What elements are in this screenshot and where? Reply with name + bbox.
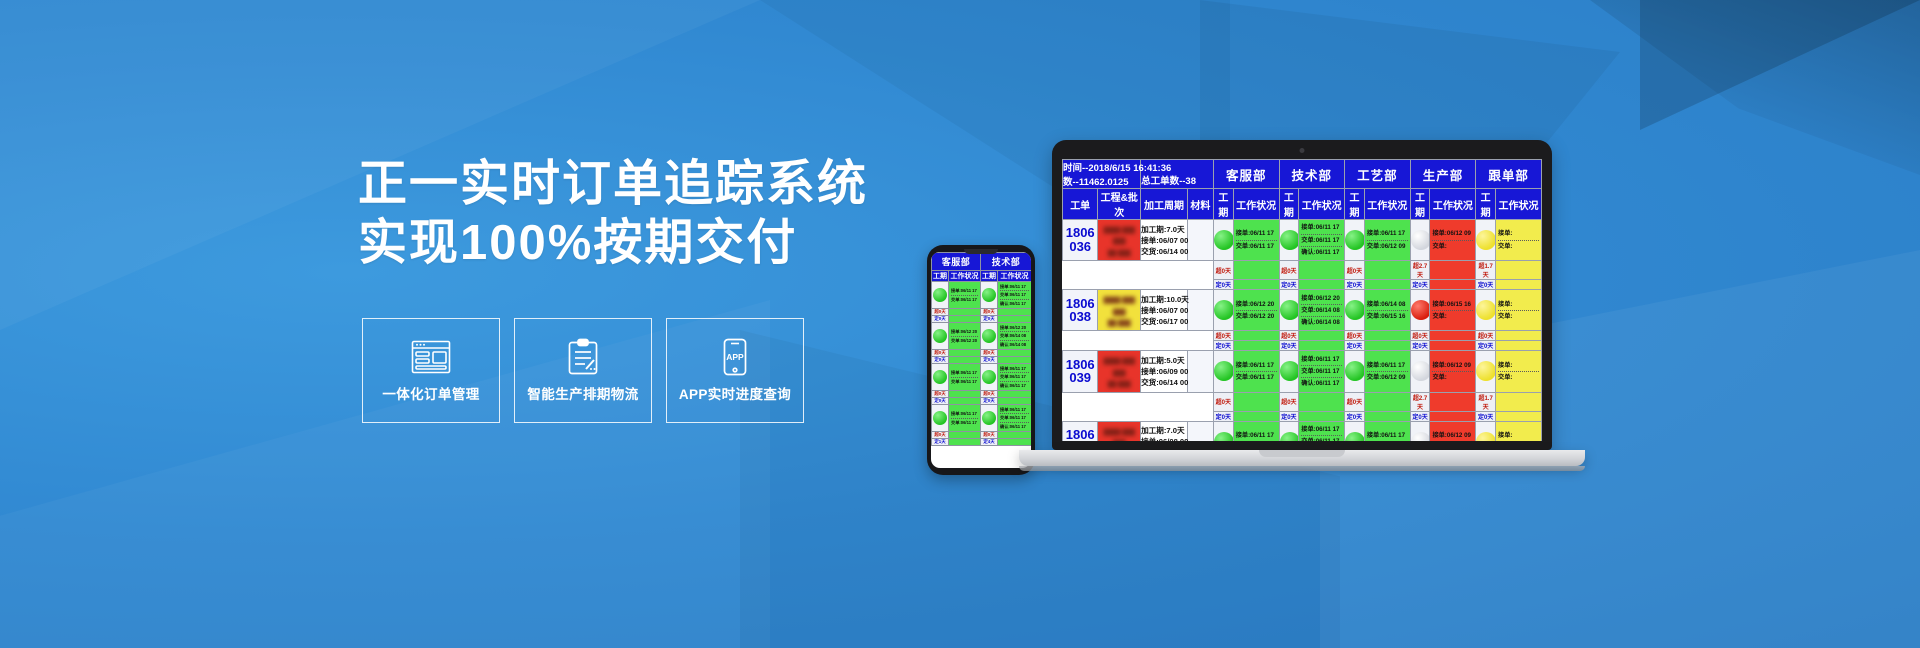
- feature-label: 智能生产排期物流: [527, 383, 638, 403]
- dept-status-cell[interactable]: 接单:06/11 17交单:06/11 17: [1233, 220, 1279, 261]
- phone-tags-over: 超0天超0天: [932, 309, 1032, 316]
- status-dot-yellow: [1476, 361, 1496, 381]
- status-dot-grey: [1411, 361, 1431, 381]
- phone-table-row[interactable]: 接单:06/11 17交单:06/11 17接单:06/11 17交单:06/1…: [932, 364, 1032, 391]
- status-filler: [1496, 280, 1542, 290]
- status-filler: [1364, 392, 1410, 411]
- status-filler: [1299, 331, 1345, 341]
- status-events: 接单:06/12 20交单:06/14 08确认:06/14 08: [998, 323, 1031, 349]
- headline-line-1: 正一实时订单追踪系统: [358, 155, 978, 214]
- status-events: 接单:06/12 20交单:06/12 20: [949, 327, 980, 345]
- dashboard-header-row: 时间--2018/6/15 16:41:36数--11462.0125 总工单数…: [1063, 160, 1542, 189]
- status-dot-grey: [1411, 432, 1431, 441]
- dept-status-cell[interactable]: 接单:06/11 17交单:06/11 17确认:06/11 17: [1299, 421, 1345, 441]
- dept-status-cell[interactable]: 接单:06/12 20交单:06/12 20: [1233, 290, 1279, 331]
- dept-status-cell[interactable]: 接单:06/12 09交单:: [1430, 351, 1476, 392]
- status-filler: [998, 316, 1031, 323]
- over-days-tag: 超0天: [1213, 261, 1233, 280]
- phone-status-cell[interactable]: 接单:06/11 17交单:06/11 17确认:06/11 17: [998, 282, 1031, 309]
- status-events: 接单:06/11 17交单:06/11 17确认:06/11 17: [1299, 353, 1344, 390]
- phone-mockup: 客服部技术部工期工作状况工期工作状况接单:06/11 17交单:06/11 17…: [927, 245, 1035, 475]
- laptop-lid: 时间--2018/6/15 16:41:36数--11462.0125 总工单数…: [1052, 140, 1552, 450]
- phone-duration-cell[interactable]: [932, 405, 949, 432]
- fixed-days-tag: 定0天: [1279, 411, 1299, 421]
- status-events: 接单:06/11 17交单:06/11 17确认:06/11 17: [998, 405, 1031, 431]
- status-filler: [1233, 280, 1279, 290]
- status-events: 接单:06/11 17交单:06/12 09: [1365, 359, 1410, 384]
- table-row-tags-over: 超0天超0天超0天超2.7天超1.7天: [1063, 392, 1542, 411]
- dept-status-cell[interactable]: 接单:交单:: [1496, 290, 1542, 331]
- over-days-tag: 超0天: [932, 350, 949, 357]
- status-events: 接单:06/11 17交单:06/11 17: [1234, 359, 1279, 384]
- status-events: 接单:06/11 17交单:06/12 09: [1365, 429, 1410, 441]
- status-dot-green: [933, 370, 947, 384]
- over-days-tag: 超0天: [981, 432, 998, 439]
- headline-line-2: 实现100%按期交付: [358, 214, 978, 273]
- over-days-tag: 超0天: [981, 391, 998, 398]
- fixed-days-tag: 定0天: [981, 398, 998, 405]
- status-dot-green: [982, 370, 996, 384]
- dept-duration-cell[interactable]: [1345, 220, 1365, 261]
- fixed-days-tag: 定0天: [1410, 341, 1430, 351]
- phone-tags-over: 超0天超0天: [932, 350, 1032, 357]
- laptop-screen[interactable]: 时间--2018/6/15 16:41:36数--11462.0125 总工单数…: [1062, 159, 1542, 441]
- status-events: 接单:06/14 08交单:06/15 16: [1365, 298, 1410, 323]
- dept-duration-cell[interactable]: [1279, 290, 1299, 331]
- status-events: 接单:交单:: [1496, 298, 1541, 323]
- fixed-days-tag: 定0天: [1476, 411, 1496, 421]
- dept-status-cell[interactable]: 接单:06/12 20交单:06/14 08确认:06/14 08: [1299, 290, 1345, 331]
- dept-header-5[interactable]: 跟单部: [1476, 160, 1542, 189]
- fixed-days-tag: 定0天: [1213, 411, 1233, 421]
- table-row[interactable]: 1806040████ ████████ ███加工期:7.0天接单:06/08…: [1063, 421, 1542, 441]
- phone-dashboard-table: 客服部技术部工期工作状况工期工作状况接单:06/11 17交单:06/11 17…: [931, 252, 1031, 446]
- over-days-tag: 超0天: [1345, 261, 1365, 280]
- dept-status-cell[interactable]: 接单:06/11 17交单:06/11 17: [1233, 351, 1279, 392]
- status-filler: [1233, 392, 1279, 411]
- material-cell[interactable]: [1187, 290, 1213, 331]
- phone-dept-header-1[interactable]: 客服部: [932, 253, 981, 271]
- status-filler: [1299, 341, 1345, 351]
- dept-duration-cell[interactable]: [1410, 421, 1430, 441]
- status-events: 接单:06/11 17交单:06/11 17确认:06/11 17: [998, 364, 1031, 390]
- phone-screen[interactable]: 客服部技术部工期工作状况工期工作状况接单:06/11 17交单:06/11 17…: [931, 252, 1031, 468]
- status-filler: [1364, 411, 1410, 421]
- dept-duration-cell[interactable]: [1213, 421, 1233, 441]
- status-events: 接单:06/11 17交单:06/11 17确认:06/11 17: [1299, 221, 1344, 258]
- over-days-tag: 超0天: [1279, 261, 1299, 280]
- over-days-tag: 超0天: [932, 309, 949, 316]
- status-filler: [1364, 341, 1410, 351]
- status-filler: [949, 309, 981, 316]
- status-dot-green: [1280, 361, 1300, 381]
- mobile-app-icon: APP: [722, 338, 748, 376]
- table-row[interactable]: 1806036████ ████████ ███加工期:7.0天接单:06/07…: [1063, 220, 1542, 261]
- phone-col-header-status[interactable]: 工作状况: [998, 271, 1031, 282]
- status-filler: [998, 432, 1031, 439]
- dept-status-cell[interactable]: 接单:交单:: [1496, 220, 1542, 261]
- col-header-4[interactable]: 材料: [1187, 189, 1213, 220]
- status-filler: [998, 350, 1031, 357]
- dept-status-cell[interactable]: 接单:06/11 17交单:06/11 17: [1233, 421, 1279, 441]
- status-events: 接单:06/11 17交单:06/11 17: [949, 409, 980, 427]
- phone-status-cell[interactable]: 接单:06/11 17交单:06/11 17: [949, 364, 981, 391]
- dept-status-cell[interactable]: 接单:交单:: [1496, 421, 1542, 441]
- feature-production-scheduling[interactable]: 智能生产排期物流: [514, 318, 652, 423]
- work-order-number[interactable]: 1806039: [1063, 351, 1098, 392]
- phone-duration-cell[interactable]: [981, 405, 998, 432]
- col-header-duration[interactable]: 工期: [1279, 189, 1299, 220]
- table-row[interactable]: 1806038████ ████████ ███加工期:10.0天接单:06/0…: [1063, 290, 1542, 331]
- col-header-status[interactable]: 工作状况: [1299, 189, 1345, 220]
- status-dot-green: [1214, 230, 1234, 250]
- status-events: 接单:06/12 09交单:: [1430, 359, 1475, 384]
- table-row[interactable]: 1806039████ ████████ ███加工期:5.0天接单:06/09…: [1063, 351, 1542, 392]
- phone-status-cell[interactable]: 接单:06/11 17交单:06/11 17确认:06/11 17: [998, 405, 1031, 432]
- status-events: 接单:06/11 17交单:06/11 17: [1234, 227, 1279, 252]
- col-header-3[interactable]: 加工周期: [1141, 189, 1188, 220]
- dept-status-cell[interactable]: 接单:06/11 17交单:06/12 09: [1364, 351, 1410, 392]
- fixed-days-tag: 定0天: [1476, 280, 1496, 290]
- phone-duration-cell[interactable]: [932, 323, 949, 350]
- dept-status-cell[interactable]: 接单:06/11 17交单:06/12 09: [1364, 421, 1410, 441]
- status-filler: [998, 398, 1031, 405]
- fixed-days-tag: 定0天: [981, 316, 998, 323]
- phone-subheader-row: 工期工作状况工期工作状况: [932, 271, 1032, 282]
- processing-cycle-cell: 加工期:7.0天接单:06/07 00交货:06/14 00: [1141, 220, 1188, 261]
- status-dot-green: [933, 288, 947, 302]
- status-events: 接单:06/11 17交单:06/11 17: [949, 286, 980, 304]
- status-filler: [949, 350, 981, 357]
- over-days-tag: 超0天: [1213, 392, 1233, 411]
- status-filler: [1496, 392, 1542, 411]
- phone-tags-over: 超0天超0天: [932, 391, 1032, 398]
- dept-duration-cell[interactable]: [1213, 290, 1233, 331]
- status-filler: [1430, 411, 1476, 421]
- processing-cycle-cell: 加工期:7.0天接单:06/08 00交货:06/15 00: [1141, 421, 1188, 441]
- material-cell[interactable]: [1187, 220, 1213, 261]
- status-filler: [949, 316, 981, 323]
- phone-dept-header-row: 客服部技术部: [932, 253, 1032, 271]
- over-days-tag: 超1.7天: [1476, 392, 1496, 411]
- status-filler: [1430, 331, 1476, 341]
- phone-status-cell[interactable]: 接单:06/11 17交单:06/11 17确认:06/11 17: [998, 364, 1031, 391]
- col-header-duration[interactable]: 工期: [1476, 189, 1496, 220]
- status-events: 接单:06/11 17交单:06/11 17: [949, 368, 980, 386]
- dashboard-time-info: 时间--2018/6/15 16:41:36数--11462.0125: [1063, 160, 1141, 189]
- table-row-tags-over: 超0天超0天超0天超2.7天超1.7天: [1063, 261, 1542, 280]
- dept-duration-cell[interactable]: [1345, 351, 1365, 392]
- feature-box-group: 一体化订单管理 智能生产排期物流: [362, 318, 804, 423]
- fixed-days-tag: 定0天: [1213, 280, 1233, 290]
- status-events: 接单:交单:: [1496, 227, 1541, 252]
- phone-duration-cell[interactable]: [932, 282, 949, 309]
- status-filler: [1233, 341, 1279, 351]
- dept-header-4[interactable]: 生产部: [1410, 160, 1476, 189]
- material-cell[interactable]: [1187, 351, 1213, 392]
- phone-status-cell[interactable]: 接单:06/12 20交单:06/14 08确认:06/14 08: [998, 323, 1031, 350]
- status-filler: [998, 391, 1031, 398]
- status-filler: [1233, 261, 1279, 280]
- batch-cell[interactable]: ████ ████████ ███: [1098, 351, 1141, 392]
- fixed-days-tag: 定0天: [1279, 280, 1299, 290]
- dept-duration-cell[interactable]: [1213, 220, 1233, 261]
- status-filler: [998, 439, 1031, 446]
- over-days-tag: 超2.7天: [1410, 392, 1430, 411]
- batch-cell[interactable]: ████ ████████ ███: [1098, 290, 1141, 331]
- fixed-days-tag: 定0天: [1476, 341, 1496, 351]
- headline-block: 正一实时订单追踪系统 实现100%按期交付: [358, 155, 978, 273]
- status-filler: [1233, 411, 1279, 421]
- col-header-duration[interactable]: 工期: [1410, 189, 1430, 220]
- status-dot-green: [1214, 300, 1234, 320]
- phone-tags-fix: 定0天定0天: [932, 316, 1032, 323]
- status-filler: [949, 398, 981, 405]
- status-events: 接单:06/11 17交单:06/11 17确认:06/11 17: [1299, 423, 1344, 441]
- dept-status-cell[interactable]: 接单:06/12 09交单:: [1430, 220, 1476, 261]
- batch-cell[interactable]: ████ ████████ ███: [1098, 220, 1141, 261]
- fixed-days-tag: 定0天: [1345, 411, 1365, 421]
- dept-duration-cell[interactable]: [1213, 351, 1233, 392]
- over-days-tag: 超0天: [1213, 331, 1233, 341]
- dept-status-cell[interactable]: 接单:06/11 17交单:06/11 17确认:06/11 17: [1299, 351, 1345, 392]
- phone-col-header-duration[interactable]: 工期: [932, 271, 949, 282]
- work-order-number[interactable]: 1806040: [1063, 421, 1098, 441]
- status-events: 接单:06/12 09交单:: [1430, 227, 1475, 252]
- status-filler: [1299, 280, 1345, 290]
- status-dot-green: [1280, 432, 1300, 441]
- status-filler: [1496, 261, 1542, 280]
- dept-duration-cell[interactable]: [1410, 220, 1430, 261]
- batch-cell[interactable]: ████ ████████ ███: [1098, 421, 1141, 441]
- dept-status-cell[interactable]: 接单:交单:: [1496, 351, 1542, 392]
- status-events: 接单:06/11 17交单:06/11 17: [1234, 429, 1279, 441]
- phone-duration-cell[interactable]: [981, 364, 998, 391]
- clipboard-schedule-icon: [567, 338, 599, 376]
- over-days-tag: 超0天: [1279, 392, 1299, 411]
- col-header-status[interactable]: 工作状况: [1364, 189, 1410, 220]
- status-dot-green: [982, 411, 996, 425]
- phone-table-row[interactable]: 接单:06/11 17交单:06/11 17接单:06/11 17交单:06/1…: [932, 282, 1032, 309]
- processing-cycle-cell: 加工期:10.0天接单:06/07 00交货:06/17 00: [1141, 290, 1188, 331]
- status-filler: [1496, 331, 1542, 341]
- dept-status-cell[interactable]: 接单:06/12 09交单:: [1430, 421, 1476, 441]
- phone-status-cell[interactable]: 接单:06/12 20交单:06/12 20: [949, 323, 981, 350]
- phone-duration-cell[interactable]: [932, 364, 949, 391]
- over-days-tag: 超0天: [1345, 331, 1365, 341]
- status-filler: [949, 357, 981, 364]
- phone-tags-fix: 定0天定0天: [932, 398, 1032, 405]
- status-filler: [1299, 411, 1345, 421]
- laptop-base-shadow: [1019, 466, 1585, 471]
- phone-duration-cell[interactable]: [981, 323, 998, 350]
- over-days-tag: 超0天: [981, 309, 998, 316]
- batch-text: ████ ████████ ███: [1098, 220, 1140, 260]
- dashboard-window-icon: [411, 338, 451, 376]
- laptop-base: [1019, 450, 1585, 466]
- phone-col-header-status[interactable]: 工作状况: [949, 271, 981, 282]
- status-dot-green: [982, 329, 996, 343]
- dept-header-3[interactable]: 工艺部: [1345, 160, 1411, 189]
- dept-duration-cell[interactable]: [1476, 421, 1496, 441]
- status-filler: [949, 432, 981, 439]
- status-events: 接单:06/11 17交单:06/11 17确认:06/11 17: [998, 282, 1031, 308]
- status-events: 接单:06/12 09交单:: [1430, 429, 1475, 441]
- fixed-days-tag: 定0天: [1213, 341, 1233, 351]
- status-dot-yellow: [1476, 300, 1496, 320]
- status-dot-green: [1345, 300, 1365, 320]
- dept-duration-cell[interactable]: [1345, 421, 1365, 441]
- status-filler: [949, 391, 981, 398]
- dept-header-1[interactable]: 客服部: [1213, 160, 1279, 189]
- status-dot-yellow: [1476, 432, 1496, 441]
- processing-cycle-cell: 加工期:5.0天接单:06/09 00交货:06/14 00: [1141, 351, 1188, 392]
- dashboard-subheader-row: 工单工程&批次加工周期材料工期工作状况工期工作状况工期工作状况工期工作状况工期工…: [1063, 189, 1542, 220]
- dept-duration-cell[interactable]: [1476, 290, 1496, 331]
- col-header-2[interactable]: 工程&批次: [1098, 189, 1141, 220]
- dept-header-2[interactable]: 技术部: [1279, 160, 1345, 189]
- dept-duration-cell[interactable]: [1279, 220, 1299, 261]
- status-events: 接单:06/12 20交单:06/14 08确认:06/14 08: [1299, 292, 1344, 329]
- fixed-days-tag: 定0天: [1345, 280, 1365, 290]
- phone-tags-fix: 定1天定4天: [932, 439, 1032, 446]
- fixed-days-tag: 定0天: [1279, 341, 1299, 351]
- status-dot-green: [1214, 361, 1234, 381]
- col-header-duration[interactable]: 工期: [1345, 189, 1365, 220]
- col-header-status[interactable]: 工作状况: [1496, 189, 1542, 220]
- fixed-days-tag: 定1天: [932, 439, 949, 446]
- status-filler: [1233, 331, 1279, 341]
- over-days-tag: 超0天: [932, 432, 949, 439]
- fixed-days-tag: 定0天: [1410, 411, 1430, 421]
- status-filler: [1299, 392, 1345, 411]
- status-filler: [1430, 392, 1476, 411]
- dept-status-cell[interactable]: 接单:06/11 17交单:06/11 17确认:06/11 17: [1299, 220, 1345, 261]
- status-filler: [949, 439, 981, 446]
- status-events: 接单:06/11 17交单:06/12 09: [1365, 227, 1410, 252]
- status-filler: [1430, 280, 1476, 290]
- status-dot-green: [1345, 230, 1365, 250]
- status-filler: [998, 309, 1031, 316]
- status-events: 接单:06/12 20交单:06/12 20: [1234, 298, 1279, 323]
- dept-duration-cell[interactable]: [1345, 290, 1365, 331]
- dept-status-cell[interactable]: 接单:06/14 08交单:06/15 16: [1364, 290, 1410, 331]
- material-cell[interactable]: [1187, 421, 1213, 441]
- table-row-tags-fix: 定0天定0天定0天定0天定0天: [1063, 411, 1542, 421]
- dept-status-cell[interactable]: 接单:06/15 16交单:: [1430, 290, 1476, 331]
- status-events: 接单:交单:: [1496, 359, 1541, 384]
- col-header-status[interactable]: 工作状况: [1233, 189, 1279, 220]
- dept-duration-cell[interactable]: [1476, 220, 1496, 261]
- phone-tags-over: 超0天超0天: [932, 432, 1032, 439]
- phone-duration-cell[interactable]: [981, 282, 998, 309]
- fixed-days-tag: 定0天: [932, 398, 949, 405]
- batch-text: ████ ████████ ███: [1098, 351, 1140, 391]
- table-row-tags-fix: 定0天定0天定0天定0天定0天: [1063, 280, 1542, 290]
- status-filler: [1430, 261, 1476, 280]
- laptop-mockup: 时间--2018/6/15 16:41:36数--11462.0125 总工单数…: [1052, 140, 1552, 450]
- fixed-days-tag: 定0天: [932, 357, 949, 364]
- feature-order-management[interactable]: 一体化订单管理: [362, 318, 500, 423]
- over-days-tag: 超2.7天: [1410, 261, 1430, 280]
- status-dot-green: [1280, 300, 1300, 320]
- over-days-tag: 超0天: [1410, 331, 1430, 341]
- phone-status-cell[interactable]: 接单:06/11 17交单:06/11 17: [949, 282, 981, 309]
- status-filler: [1364, 261, 1410, 280]
- status-dot-green: [933, 411, 947, 425]
- batch-text: ████ ████████ ███: [1098, 290, 1140, 330]
- col-header-1[interactable]: 工单: [1063, 189, 1098, 220]
- status-dot-green: [1280, 230, 1300, 250]
- dashboard-table: 时间--2018/6/15 16:41:36数--11462.0125 总工单数…: [1062, 159, 1542, 441]
- phone-notch: [964, 249, 998, 254]
- dept-duration-cell[interactable]: [1279, 351, 1299, 392]
- phone-table-row[interactable]: 接单:06/11 17交单:06/11 17接单:06/11 17交单:06/1…: [932, 405, 1032, 432]
- over-days-tag: 超0天: [1279, 331, 1299, 341]
- phone-dashboard: 客服部技术部工期工作状况工期工作状况接单:06/11 17交单:06/11 17…: [931, 252, 1031, 446]
- work-order-number[interactable]: 1806038: [1063, 290, 1098, 331]
- over-days-tag: 超1.7天: [1476, 261, 1496, 280]
- status-dot-yellow: [1476, 230, 1496, 250]
- status-dot-green: [1214, 432, 1234, 441]
- status-filler: [1496, 341, 1542, 351]
- over-days-tag: 超0天: [1345, 392, 1365, 411]
- laptop-base-notch: [1259, 450, 1345, 457]
- status-dot-green: [933, 329, 947, 343]
- over-days-tag: 超0天: [1476, 331, 1496, 341]
- status-dot-green: [1345, 361, 1365, 381]
- table-row-tags-fix: 定0天定0天定0天定0天定0天: [1063, 341, 1542, 351]
- over-days-tag: 超0天: [981, 350, 998, 357]
- phone-status-cell[interactable]: 接单:06/11 17交单:06/11 17: [949, 405, 981, 432]
- status-events: 接单:交单:: [1496, 429, 1541, 441]
- status-events: 接单:06/15 16交单:: [1430, 298, 1475, 323]
- status-filler: [1364, 331, 1410, 341]
- phone-table-row[interactable]: 接单:06/12 20交单:06/12 20接单:06/12 20交单:06/1…: [932, 323, 1032, 350]
- phone-tags-fix: 定0天定0天: [932, 357, 1032, 364]
- col-header-duration[interactable]: 工期: [1213, 189, 1233, 220]
- feature-label: APP实时进度查询: [679, 383, 791, 403]
- webcam-icon: [1300, 148, 1305, 153]
- status-filler: [1430, 341, 1476, 351]
- fixed-days-tag: 定0天: [932, 316, 949, 323]
- col-header-status[interactable]: 工作状况: [1430, 189, 1476, 220]
- phone-col-header-duration[interactable]: 工期: [981, 271, 998, 282]
- order-tracking-dashboard: 时间--2018/6/15 16:41:36数--11462.0125 总工单数…: [1062, 159, 1542, 441]
- dept-duration-cell[interactable]: [1410, 351, 1430, 392]
- fixed-days-tag: 定4天: [981, 439, 998, 446]
- feature-label: 一体化订单管理: [382, 383, 479, 403]
- status-filler: [998, 357, 1031, 364]
- dept-duration-cell[interactable]: [1410, 290, 1430, 331]
- fixed-days-tag: 定0天: [981, 357, 998, 364]
- work-order-number[interactable]: 1806036: [1063, 220, 1098, 261]
- fixed-days-tag: 定0天: [1345, 341, 1365, 351]
- batch-text: ████ ████████ ███: [1098, 422, 1140, 441]
- feature-app-progress-query[interactable]: APP APP实时进度查询: [666, 318, 804, 423]
- table-row-tags-over: 超0天超0天超0天超0天超0天: [1063, 331, 1542, 341]
- banner-root: 正一实时订单追踪系统 实现100%按期交付 一体化订单管理: [0, 0, 1920, 648]
- status-filler: [1364, 280, 1410, 290]
- status-dot-grey: [1411, 230, 1431, 250]
- phone-dept-header-2[interactable]: 技术部: [981, 253, 1031, 271]
- status-dot-green: [982, 288, 996, 302]
- dept-duration-cell[interactable]: [1279, 421, 1299, 441]
- fixed-days-tag: 定0天: [1410, 280, 1430, 290]
- dept-status-cell[interactable]: 接单:06/11 17交单:06/12 09: [1364, 220, 1410, 261]
- dept-duration-cell[interactable]: [1476, 351, 1496, 392]
- status-filler: [1496, 411, 1542, 421]
